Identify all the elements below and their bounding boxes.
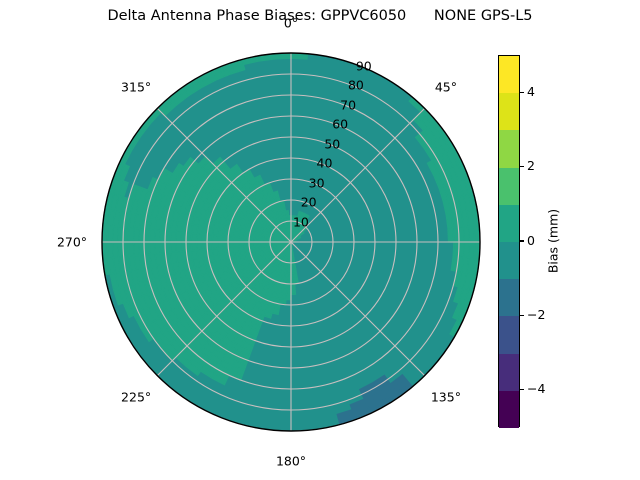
colorbar-band: [499, 205, 519, 242]
radial-tick-label: 80: [348, 78, 364, 93]
colorbar-tick-mark: [520, 166, 524, 167]
colorbar-band: [499, 316, 519, 353]
colorbar-band: [499, 242, 519, 279]
colorbar-band: [499, 279, 519, 316]
radial-tick-label: 60: [332, 117, 348, 132]
figure-canvas: Delta Antenna Phase Biases: GPPVC6050 NO…: [0, 0, 640, 480]
colorbar-band: [499, 354, 519, 391]
colorbar-tick-mark: [520, 315, 524, 316]
colorbar-band: [499, 93, 519, 130]
colorbar-tick-label: −2: [527, 307, 545, 322]
angular-tick-label: 0°: [284, 16, 298, 31]
colorbar-band: [499, 391, 519, 428]
polar-grid: [102, 53, 480, 431]
radial-tick-label: 70: [340, 97, 356, 112]
colorbar-band: [499, 56, 519, 93]
angular-tick-label: 135°: [431, 389, 461, 404]
radial-tick-label: 30: [309, 175, 325, 190]
colorbar-tick-label: 0: [527, 233, 535, 248]
colorbar-band: [499, 130, 519, 167]
colorbar-tick-mark: [520, 389, 524, 390]
colorbar-gradient: [498, 55, 520, 427]
colorbar-tick-label: −4: [527, 381, 545, 396]
colorbar-tick-mark: [520, 240, 524, 241]
angular-tick-label: 270°: [57, 235, 87, 250]
radial-tick-label: 20: [301, 195, 317, 210]
radial-tick-label: 10: [293, 214, 309, 229]
colorbar-tick-label: 4: [527, 84, 535, 99]
angular-tick-label: 45°: [435, 80, 457, 95]
colorbar-tick-label: 2: [527, 158, 535, 173]
angular-tick-label: 315°: [121, 80, 151, 95]
angular-tick-label: 180°: [276, 454, 306, 469]
angular-tick-label: 225°: [121, 389, 151, 404]
radial-tick-label: 50: [324, 136, 340, 151]
colorbar-tick-mark: [520, 92, 524, 93]
colorbar-axis-label: Bias (mm): [546, 209, 561, 273]
radial-tick-label: 40: [317, 156, 333, 171]
colorbar: [498, 55, 520, 427]
radial-tick-label: 90: [356, 58, 372, 73]
colorbar-band: [499, 168, 519, 205]
